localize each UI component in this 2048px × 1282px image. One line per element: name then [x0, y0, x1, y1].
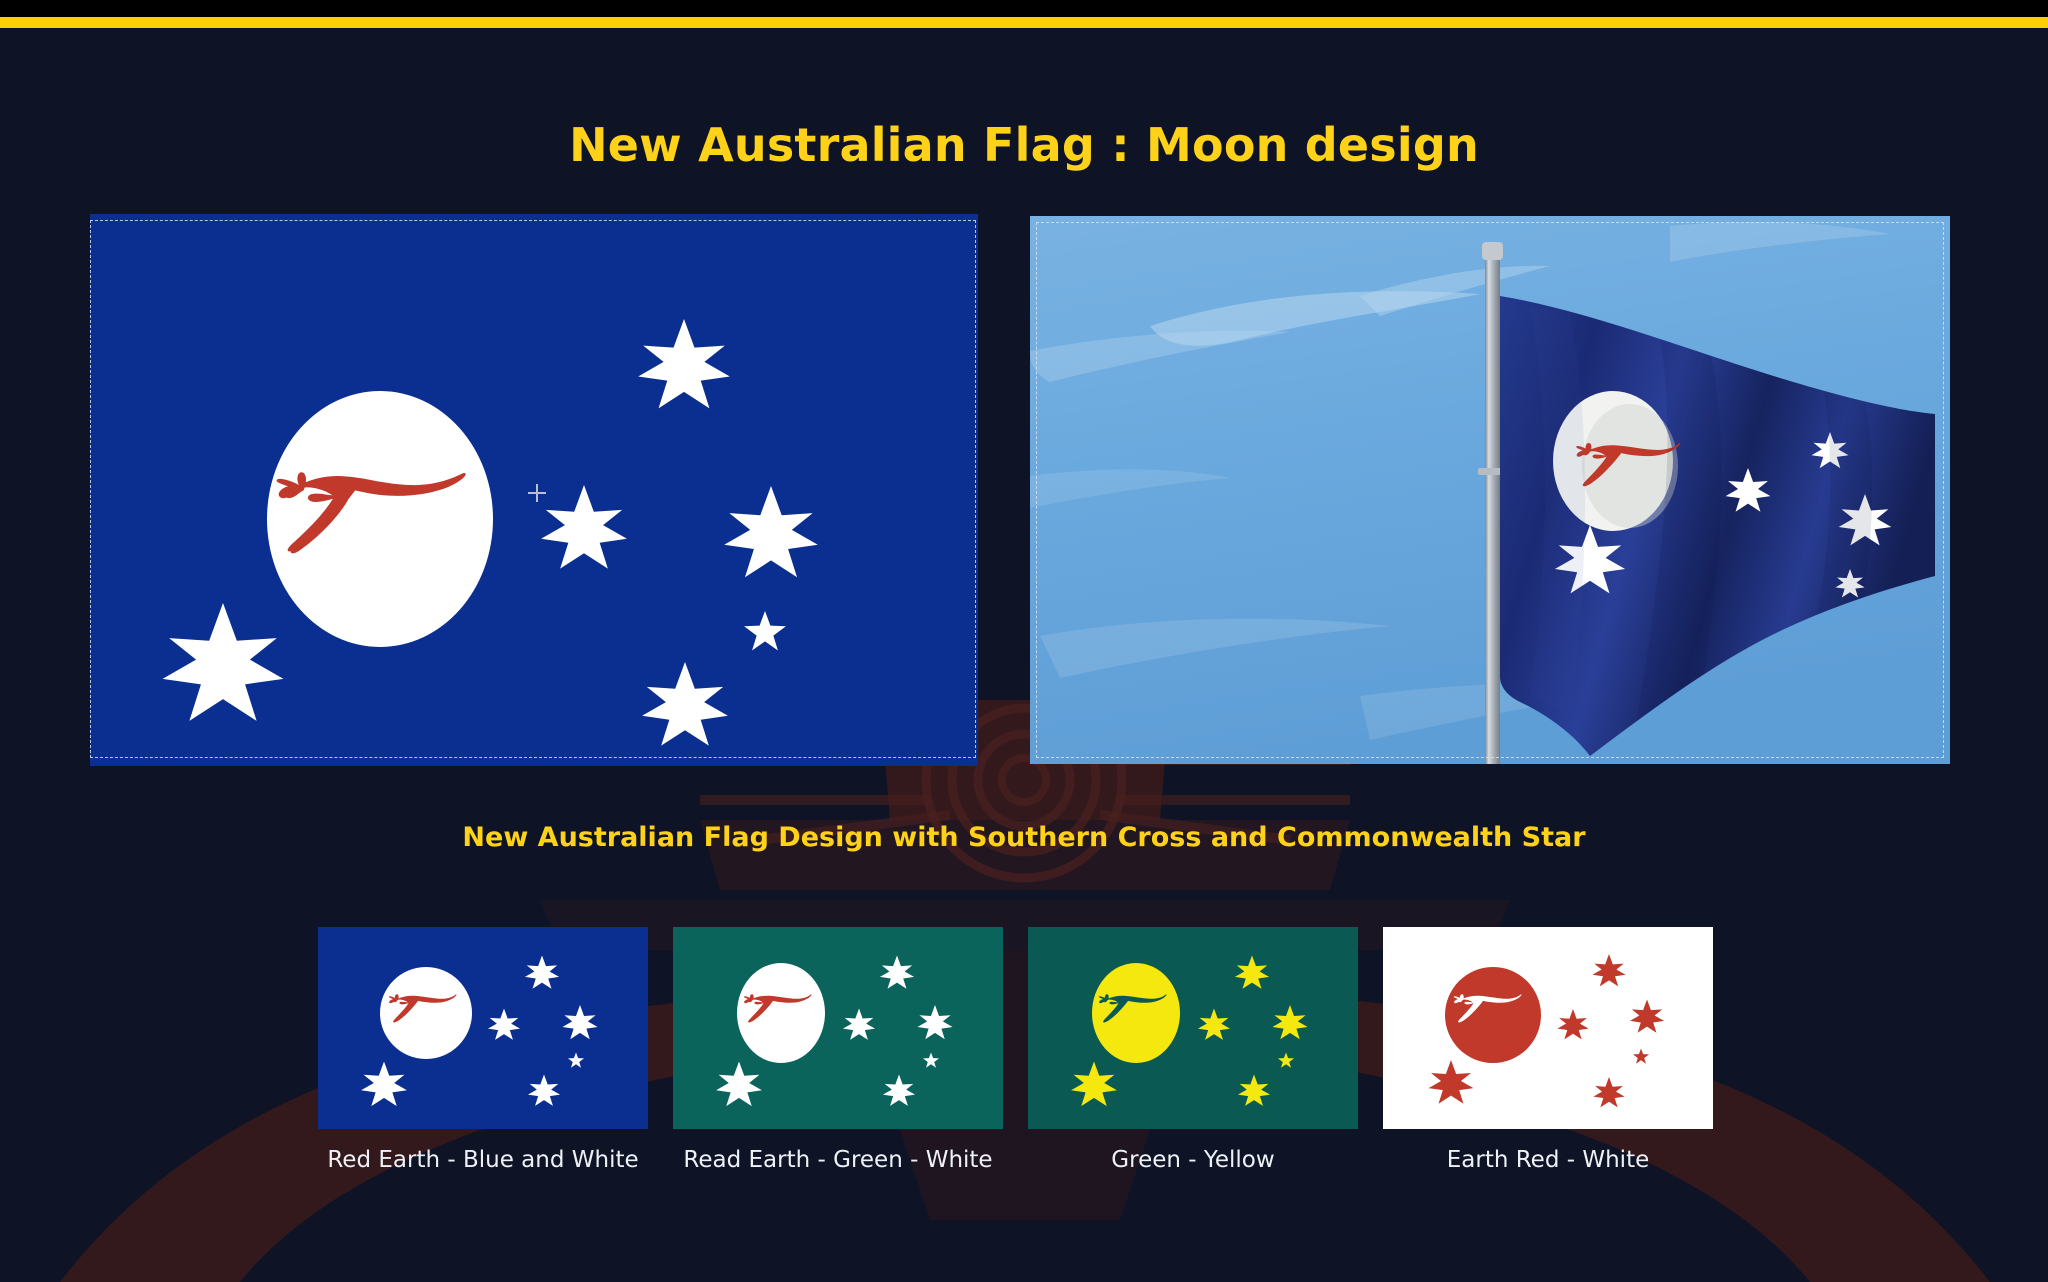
variant-label: Red Earth - Blue and White	[318, 1147, 648, 1173]
page-root: New Australian Flag : Moon design	[0, 0, 2048, 1282]
variant-label: Read Earth - Green - White	[673, 1147, 1003, 1173]
flag-field	[318, 927, 648, 1129]
variant-flag-red-white[interactable]	[1383, 927, 1713, 1129]
moon-disc	[267, 391, 493, 647]
variant-thumbnail-row: Red Earth - Blue and White Read Earth	[318, 927, 1738, 1187]
moon-disc	[380, 967, 472, 1059]
moon-disc	[1445, 967, 1541, 1063]
variant-thumbnail[interactable]: Green - Yellow	[1028, 927, 1358, 1129]
window-top-strip	[0, 0, 2048, 17]
page-title: New Australian Flag : Moon design	[0, 118, 2048, 172]
variant-thumbnail[interactable]: Red Earth - Blue and White	[318, 927, 648, 1129]
flag-field	[1383, 927, 1713, 1129]
variant-label: Earth Red - White	[1383, 1147, 1713, 1173]
variant-flag-green-white[interactable]	[673, 927, 1003, 1129]
moon-disc	[737, 963, 825, 1063]
variant-thumbnail[interactable]: Earth Red - White	[1383, 927, 1713, 1129]
variant-flag-blue-white[interactable]	[318, 927, 648, 1129]
flag-field	[673, 927, 1003, 1129]
flag-field	[1028, 927, 1358, 1129]
flag-photo-preview[interactable]	[1030, 216, 1950, 764]
variant-flag-green-yellow[interactable]	[1028, 927, 1358, 1129]
variant-label: Green - Yellow	[1028, 1147, 1358, 1173]
variant-thumbnail[interactable]: Read Earth - Green - White	[673, 927, 1003, 1129]
design-caption: New Australian Flag Design with Southern…	[0, 822, 2048, 853]
moon-disc	[1092, 963, 1180, 1063]
flag-design-preview[interactable]	[90, 214, 978, 766]
accent-band	[0, 17, 2048, 28]
